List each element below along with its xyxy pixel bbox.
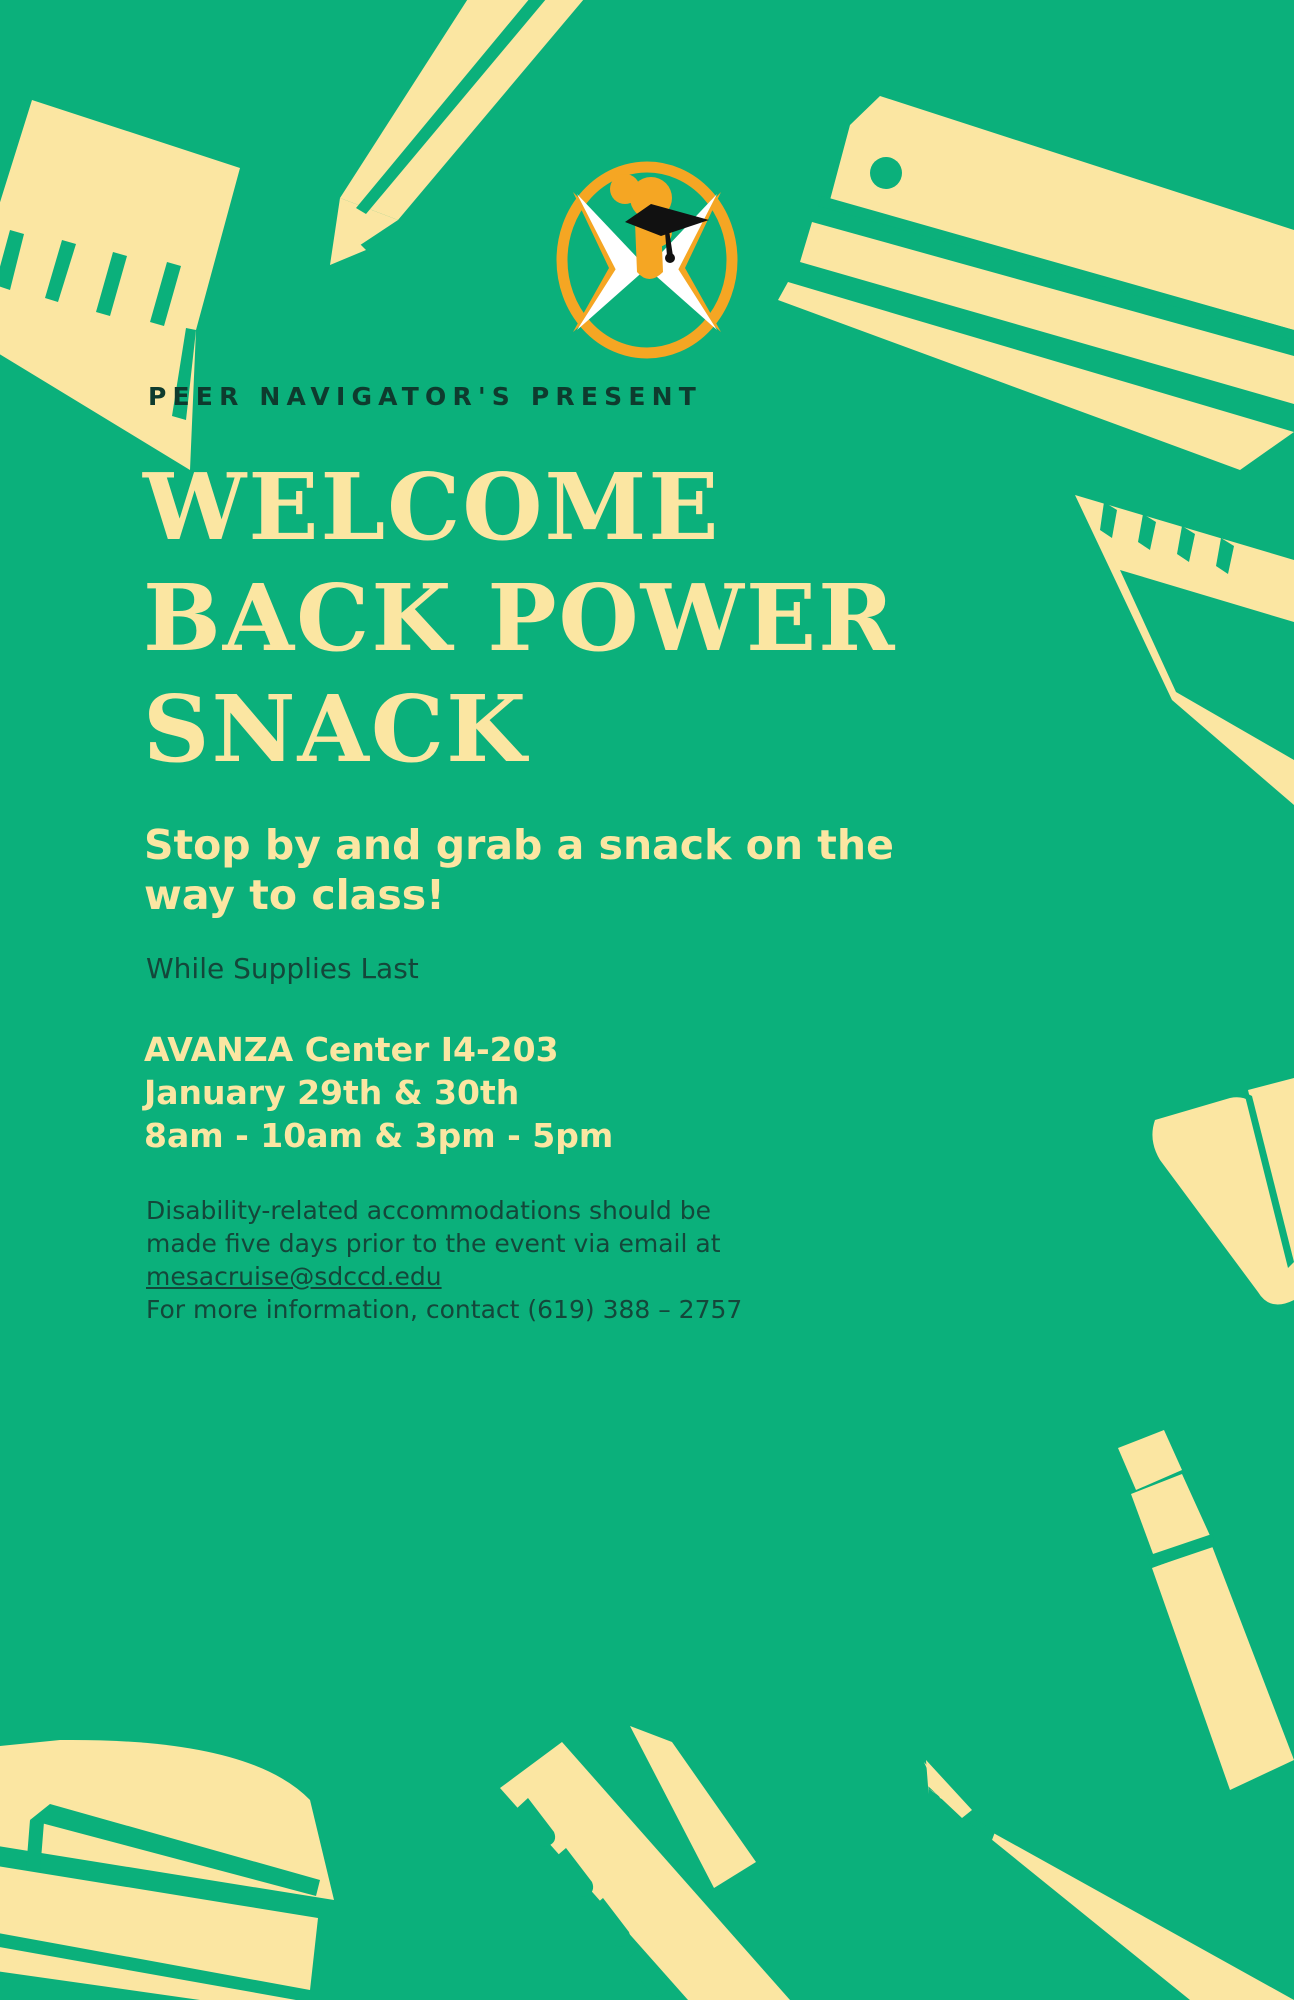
subtitle-line-1: Stop by and grab a snack on the xyxy=(144,820,904,870)
title-line-2: BACK POWER xyxy=(143,563,943,674)
kicker-text: PEER NAVIGATOR'S PRESENT xyxy=(148,382,702,411)
disclaimer-line-4: For more information, contact (619) 388 … xyxy=(146,1293,906,1326)
disclaimer-line-1: Disability-related accommodations should… xyxy=(146,1194,906,1227)
event-times: 8am - 10am & 3pm - 5pm xyxy=(144,1114,613,1157)
event-location: AVANZA Center I4-203 xyxy=(144,1028,613,1071)
page-title: WELCOME BACK POWER SNACK xyxy=(143,452,943,785)
poster-canvas: PEER NAVIGATOR'S PRESENT WELCOME BACK PO… xyxy=(0,0,1294,2000)
title-line-1: WELCOME xyxy=(143,452,943,563)
title-line-3: SNACK xyxy=(143,674,943,785)
contact-email-link[interactable]: mesacruise@sdccd.edu xyxy=(146,1260,442,1293)
event-details: AVANZA Center I4-203 January 29th & 30th… xyxy=(144,1028,613,1157)
accessibility-disclaimer: Disability-related accommodations should… xyxy=(146,1194,906,1326)
disclaimer-line-2: made five days prior to the event via em… xyxy=(146,1227,906,1260)
subtitle: Stop by and grab a snack on the way to c… xyxy=(144,820,904,920)
supplies-note: While Supplies Last xyxy=(146,952,419,985)
poster-text-content: PEER NAVIGATOR'S PRESENT WELCOME BACK PO… xyxy=(0,0,1294,2000)
event-dates: January 29th & 30th xyxy=(144,1071,613,1114)
subtitle-line-2: way to class! xyxy=(144,870,904,920)
